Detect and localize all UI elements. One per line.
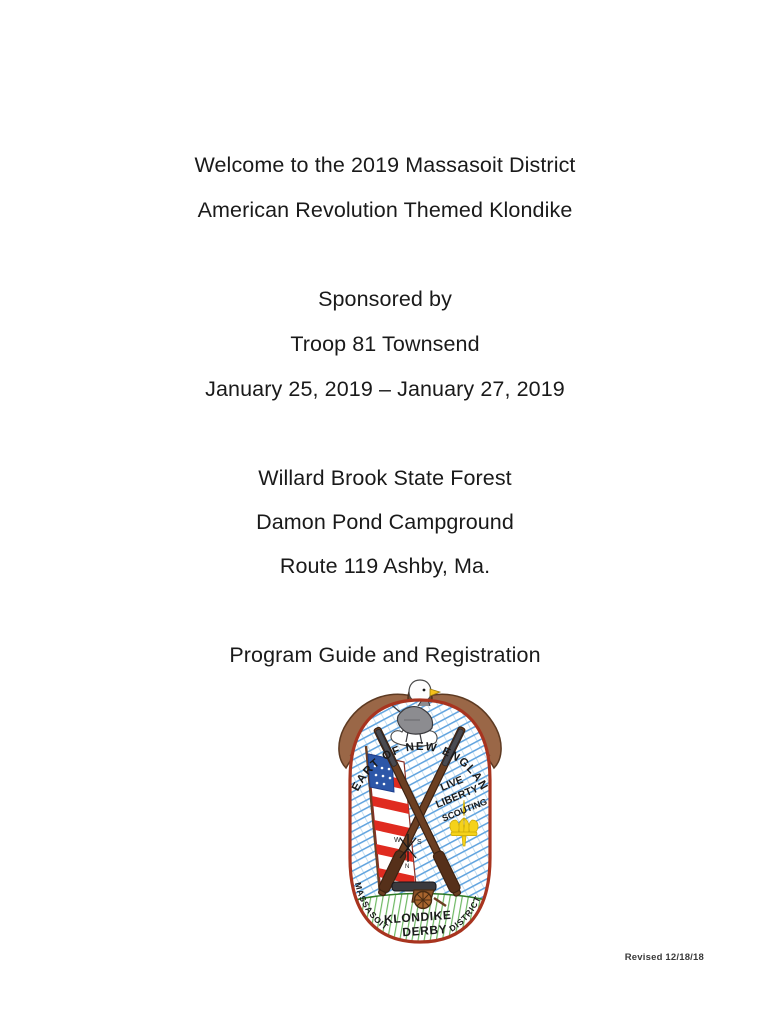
event-dates: January 25, 2019 – January 27, 2019	[0, 379, 770, 401]
title-line-welcome: Welcome to the 2019 Massasoit District	[0, 155, 770, 177]
sponsor-troop: Troop 81 Townsend	[0, 334, 770, 356]
revision-note: Revised 12/18/18	[625, 952, 704, 963]
title-line-theme: American Revolution Themed Klondike	[0, 200, 770, 222]
document-type-label: Program Guide and Registration	[0, 645, 770, 667]
venue-campground: Damon Pond Campground	[0, 512, 770, 534]
venue-address: Route 119 Ashby, Ma.	[0, 556, 770, 578]
venue-forest: Willard Brook State Forest	[0, 468, 770, 490]
document-page: Welcome to the 2019 Massasoit District A…	[0, 0, 770, 1024]
svg-text:W: W	[394, 837, 401, 844]
sponsored-by-label: Sponsored by	[0, 289, 770, 311]
emblem-artwork: W S N	[330, 676, 510, 954]
svg-text:N: N	[405, 864, 409, 870]
klondike-derby-emblem: W S N	[330, 676, 510, 954]
svg-text:S: S	[417, 839, 422, 846]
